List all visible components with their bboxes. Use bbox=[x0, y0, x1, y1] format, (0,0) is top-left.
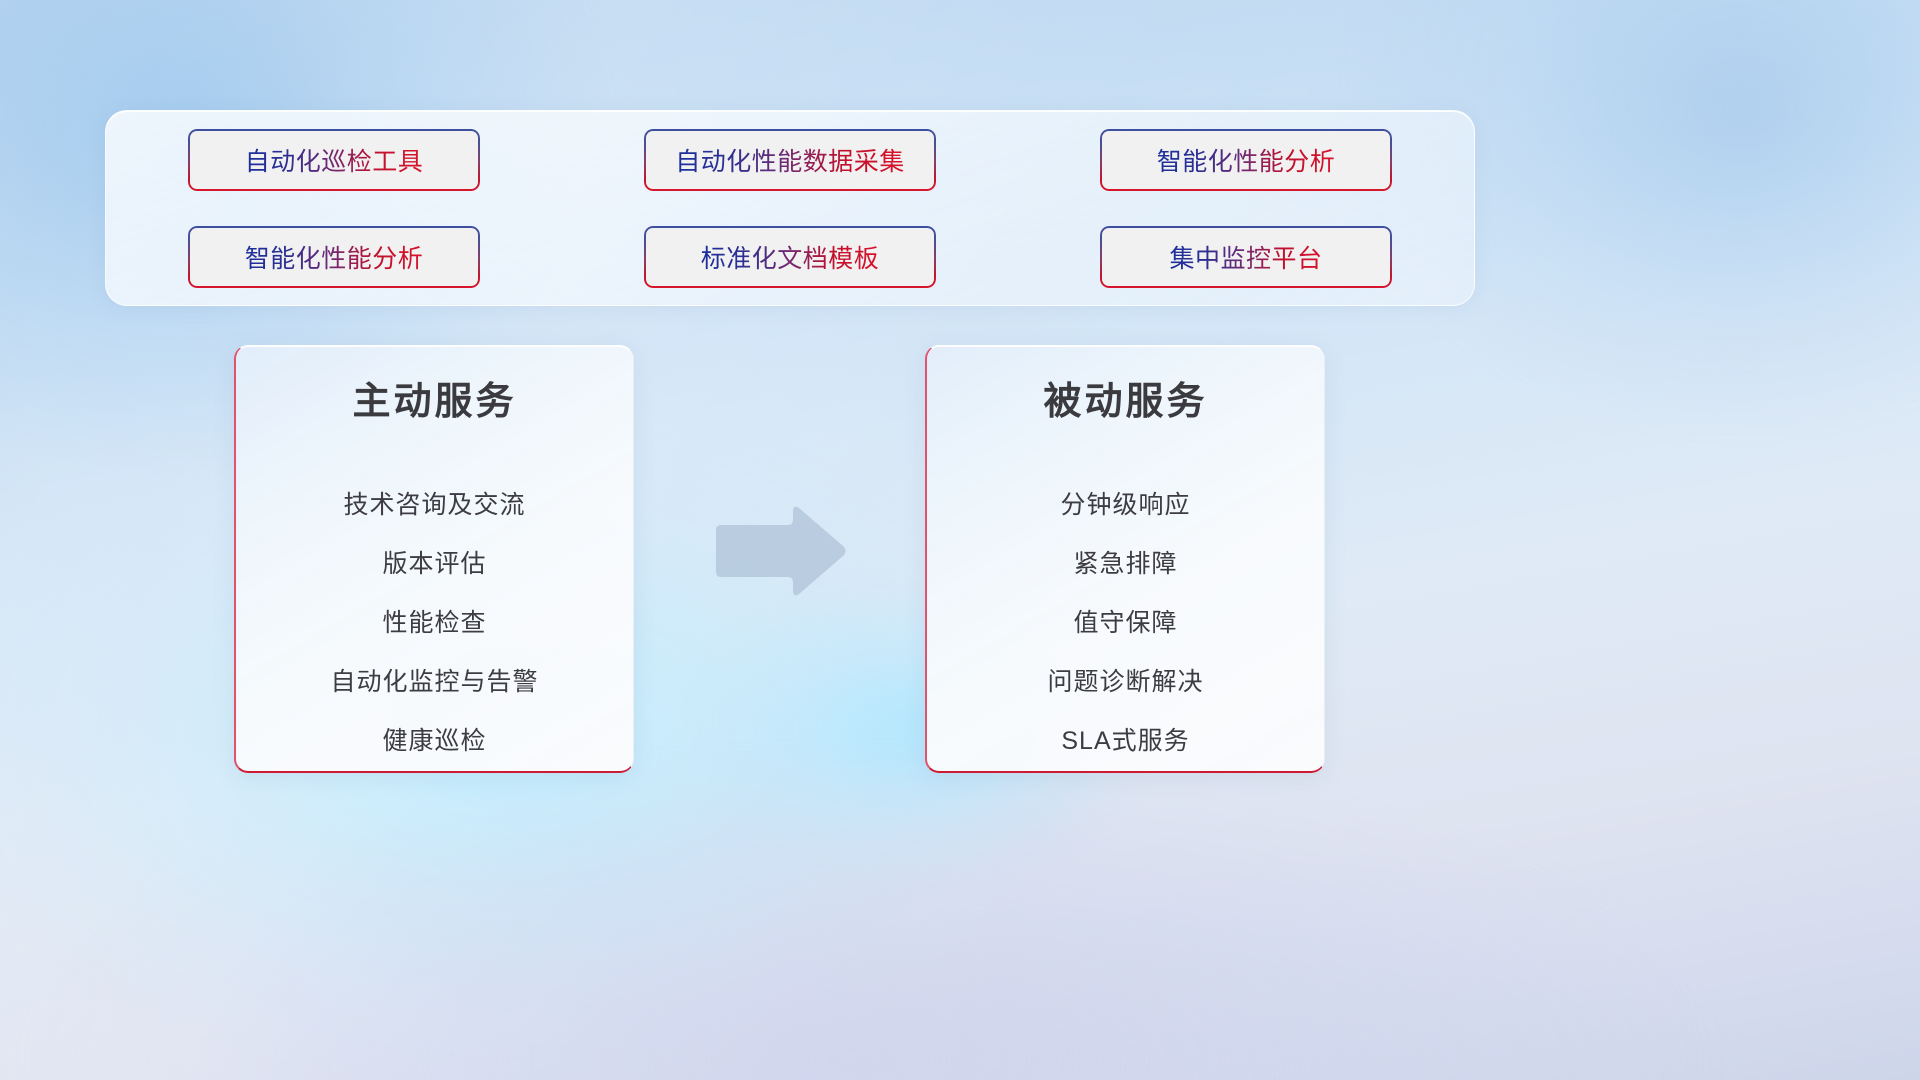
right-arrow-icon bbox=[712, 503, 850, 599]
list-item: 紧急排障 bbox=[1073, 535, 1177, 594]
capability-pill-label: 集中监控平台 bbox=[1169, 239, 1322, 275]
card-title: 主动服务 bbox=[352, 382, 516, 424]
list-item: 分钟级响应 bbox=[1060, 476, 1190, 535]
card-title: 被动服务 bbox=[1043, 382, 1207, 424]
capability-pill-label: 智能化性能分析 bbox=[1157, 142, 1336, 178]
list-item: SLA式服务 bbox=[1061, 712, 1189, 771]
list-item: 健康巡检 bbox=[382, 712, 486, 771]
proactive-service-list: 技术咨询及交流 版本评估 性能检查 自动化监控与告警 健康巡检 bbox=[262, 476, 607, 771]
proactive-service-card[interactable]: 主动服务 技术咨询及交流 版本评估 性能检查 自动化监控与告警 健康巡检 bbox=[234, 345, 634, 773]
list-item: 技术咨询及交流 bbox=[343, 476, 525, 535]
capability-pill-5[interactable]: 标准化文档模板 bbox=[644, 226, 936, 288]
capability-pill-2[interactable]: 自动化性能数据采集 bbox=[644, 129, 936, 191]
capability-pill-3[interactable]: 智能化性能分析 bbox=[1100, 129, 1392, 191]
list-item: 自动化监控与告警 bbox=[330, 653, 538, 712]
capability-pill-1[interactable]: 自动化巡检工具 bbox=[188, 129, 480, 191]
reactive-service-card[interactable]: 被动服务 分钟级响应 紧急排障 值守保障 问题诊断解决 SLA式服务 bbox=[925, 345, 1325, 773]
list-item: 值守保障 bbox=[1073, 594, 1177, 653]
list-item: 问题诊断解决 bbox=[1047, 653, 1203, 712]
capability-pill-label: 自动化性能数据采集 bbox=[675, 142, 905, 178]
capability-pill-4[interactable]: 智能化性能分析 bbox=[188, 226, 480, 288]
capability-pill-label: 智能化性能分析 bbox=[245, 239, 424, 275]
list-item: 版本评估 bbox=[382, 535, 486, 594]
capability-pill-label: 自动化巡检工具 bbox=[245, 142, 424, 178]
capability-pill-label: 标准化文档模板 bbox=[701, 239, 880, 275]
reactive-service-list: 分钟级响应 紧急排障 值守保障 问题诊断解决 SLA式服务 bbox=[953, 476, 1298, 771]
capability-panel: 自动化巡检工具 自动化性能数据采集 智能化性能分析 智能化性能分析 标准化文档模… bbox=[105, 110, 1475, 306]
list-item: 性能检查 bbox=[382, 594, 486, 653]
slide-canvas: 自动化巡检工具 自动化性能数据采集 智能化性能分析 智能化性能分析 标准化文档模… bbox=[0, 0, 1920, 1080]
capability-pill-6[interactable]: 集中监控平台 bbox=[1100, 226, 1392, 288]
